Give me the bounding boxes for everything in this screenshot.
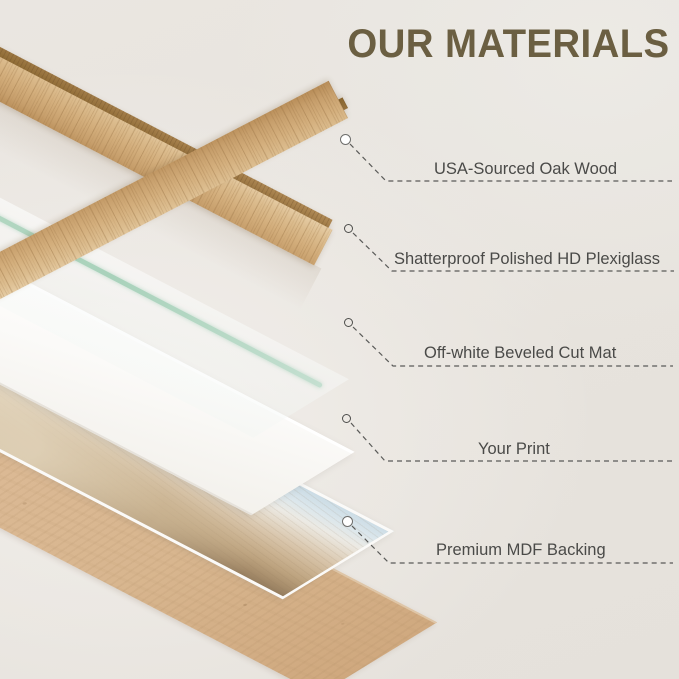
callout-marker-mat[interactable]	[344, 318, 353, 327]
product-infographic: OUR MATERIALS USA-Sourced Oak WoodShatte…	[0, 0, 679, 679]
callout-label-print: Your Print	[478, 440, 550, 459]
callout-marker-print[interactable]	[342, 414, 351, 423]
callout-leader-lines	[0, 0, 679, 679]
callout-label-mdf-backing: Premium MDF Backing	[436, 541, 606, 560]
callout-marker-oak-wood[interactable]	[340, 134, 351, 145]
callout-marker-mdf-backing[interactable]	[342, 516, 353, 527]
callout-label-oak-wood: USA-Sourced Oak Wood	[434, 160, 617, 179]
callout-marker-plexiglass[interactable]	[344, 224, 353, 233]
callout-label-plexiglass: Shatterproof Polished HD Plexiglass	[394, 250, 660, 269]
callout-label-mat: Off-white Beveled Cut Mat	[424, 344, 616, 363]
